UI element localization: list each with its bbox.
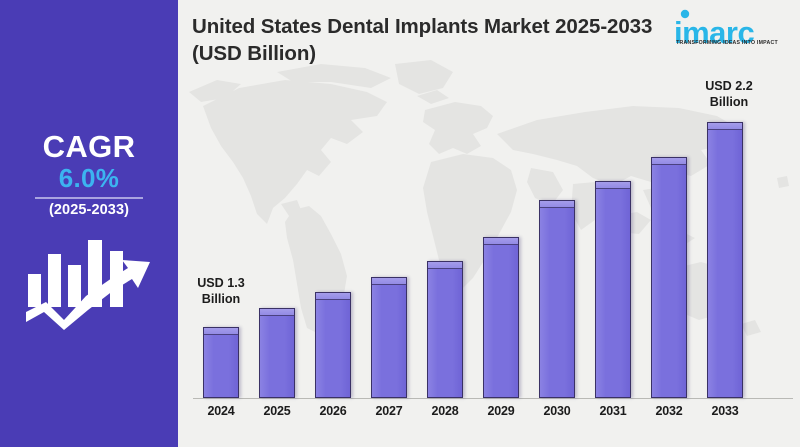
cagr-sidebar: CAGR 6.0% (2025-2033)	[0, 0, 178, 447]
bar-2033[interactable]	[707, 122, 743, 398]
bar-cap	[708, 123, 742, 130]
bar-2029[interactable]	[483, 237, 519, 398]
bar-2030[interactable]	[539, 200, 575, 398]
bar-chart-plot: USD 1.3 Billion USD 2.2 Billion 2024 202…	[181, 0, 800, 447]
value-label-first-line1: USD 1.3	[197, 276, 245, 290]
bar-cap	[260, 309, 294, 316]
x-label-2026: 2026	[305, 404, 361, 418]
bar-2025[interactable]	[259, 308, 295, 398]
x-label-2024: 2024	[193, 404, 249, 418]
bar-cap	[428, 262, 462, 269]
x-label-2033: 2033	[697, 404, 753, 418]
value-label-first-line2: Billion	[202, 292, 240, 306]
chart-panel: United States Dental Implants Market 202…	[181, 0, 800, 447]
x-label-2030: 2030	[529, 404, 585, 418]
bar-2024[interactable]	[203, 327, 239, 398]
cagr-divider	[35, 197, 143, 199]
bar-2027[interactable]	[371, 277, 407, 398]
bar-2032[interactable]	[651, 157, 687, 398]
infographic-root: CAGR 6.0% (2025-2033) United States Dent…	[0, 0, 800, 447]
cagr-value: 6.0%	[0, 164, 178, 194]
x-label-2027: 2027	[361, 404, 417, 418]
x-axis-line	[193, 398, 793, 399]
cagr-title: CAGR	[0, 131, 178, 163]
value-label-last-line2: Billion	[710, 95, 748, 109]
x-label-2029: 2029	[473, 404, 529, 418]
x-label-2028: 2028	[417, 404, 473, 418]
cagr-block: CAGR 6.0% (2025-2033)	[0, 131, 178, 218]
value-label-last: USD 2.2 Billion	[690, 78, 768, 110]
bar-2031[interactable]	[595, 181, 631, 398]
bar-cap	[372, 278, 406, 285]
bar-cap	[540, 201, 574, 208]
x-label-2031: 2031	[585, 404, 641, 418]
value-label-last-line1: USD 2.2	[705, 79, 753, 93]
x-label-2025: 2025	[249, 404, 305, 418]
bar-2026[interactable]	[315, 292, 351, 398]
bar-cap	[316, 293, 350, 300]
bar-cap	[652, 158, 686, 165]
x-label-2032: 2032	[641, 404, 697, 418]
bar-cap	[596, 182, 630, 189]
bar-cap	[204, 328, 238, 335]
growth-bars-arrow-icon	[24, 232, 156, 332]
bar-2028[interactable]	[427, 261, 463, 398]
value-label-first: USD 1.3 Billion	[182, 275, 260, 307]
cagr-period: (2025-2033)	[0, 202, 178, 218]
bar-cap	[484, 238, 518, 245]
